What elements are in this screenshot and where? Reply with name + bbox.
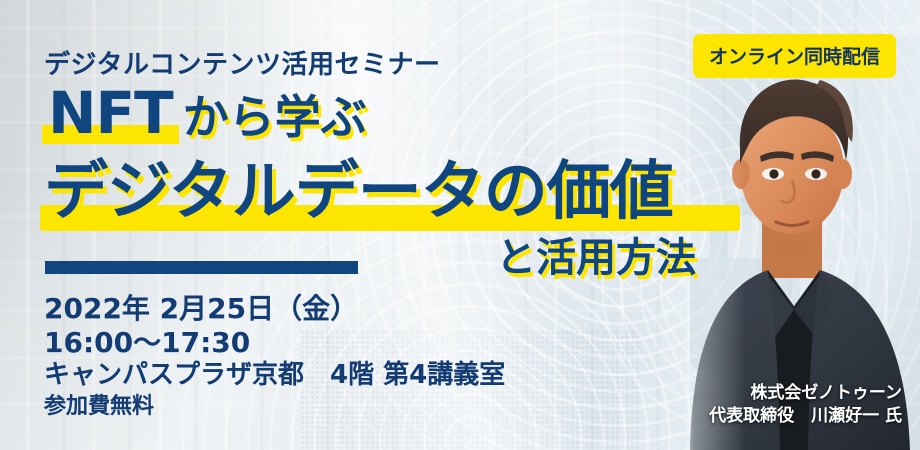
banner-content: デジタルコンテンツ活用セミナー NFT から学ぶ デジタルデータの価値 と活用方… — [0, 0, 920, 450]
title-line-two: デジタルデータの価値 — [44, 160, 673, 224]
title-line-one: NFT から学ぶ — [44, 84, 367, 142]
title-tail: と活用方法 — [496, 238, 696, 278]
title-main: デジタルデータの価値 — [44, 160, 673, 224]
divider-bar — [45, 261, 358, 274]
event-fee: 参加費無料 — [44, 394, 505, 421]
speaker-credit: 株式会ゼノトゥーン 代表取締役 川瀬好一 氏 — [709, 382, 902, 428]
event-date: 2022年 2月25日（金） — [44, 292, 505, 326]
online-streaming-badge: オンライン同時配信 — [693, 34, 896, 78]
speaker-company: 株式会ゼノトゥーン — [709, 382, 902, 405]
event-venue: キャンパスプラザ京都 4階 第4講義室 — [44, 360, 505, 392]
event-time: 16:00〜17:30 — [44, 326, 505, 360]
seminar-banner: デジタルコンテンツ活用セミナー NFT から学ぶ デジタルデータの価値 と活用方… — [0, 0, 920, 450]
speaker-title-name: 代表取締役 川瀬好一 氏 — [709, 405, 902, 428]
eyebrow-text: デジタルコンテンツ活用セミナー — [44, 44, 440, 81]
event-details: 2022年 2月25日（金） 16:00〜17:30 キャンパスプラザ京都 4階… — [44, 292, 505, 421]
title-nft: NFT — [44, 84, 177, 142]
title-nft-suffix: から学ぶ — [183, 94, 367, 142]
